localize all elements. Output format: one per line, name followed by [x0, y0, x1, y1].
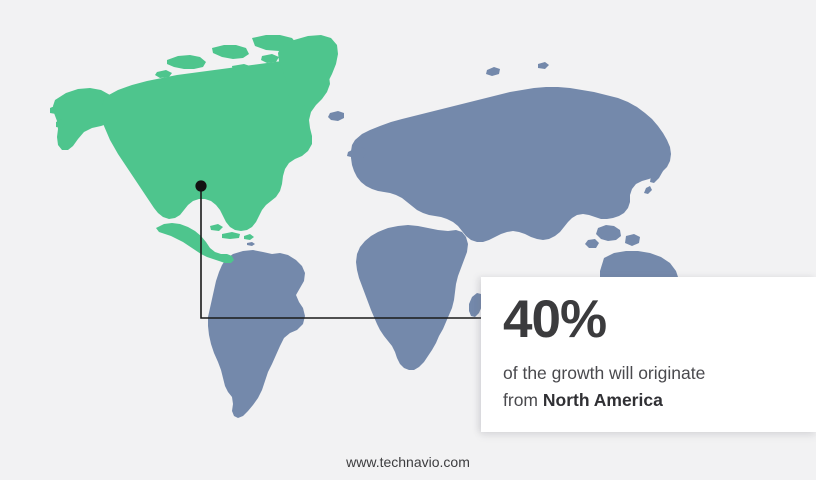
stat-percent-value: 40%	[503, 293, 794, 346]
infographic-canvas: 40% of the growth will originate from No…	[0, 0, 816, 480]
stat-description-line1: of the growth will originate	[503, 363, 705, 383]
footer-source-url: www.technavio.com	[0, 454, 816, 470]
stat-region-name: North America	[543, 390, 663, 410]
stat-callout-card: 40% of the growth will originate from No…	[481, 277, 816, 432]
stat-description: of the growth will originate from North …	[503, 360, 794, 414]
stat-description-line2-prefix: from	[503, 390, 543, 410]
map-region-north-america	[50, 35, 338, 263]
